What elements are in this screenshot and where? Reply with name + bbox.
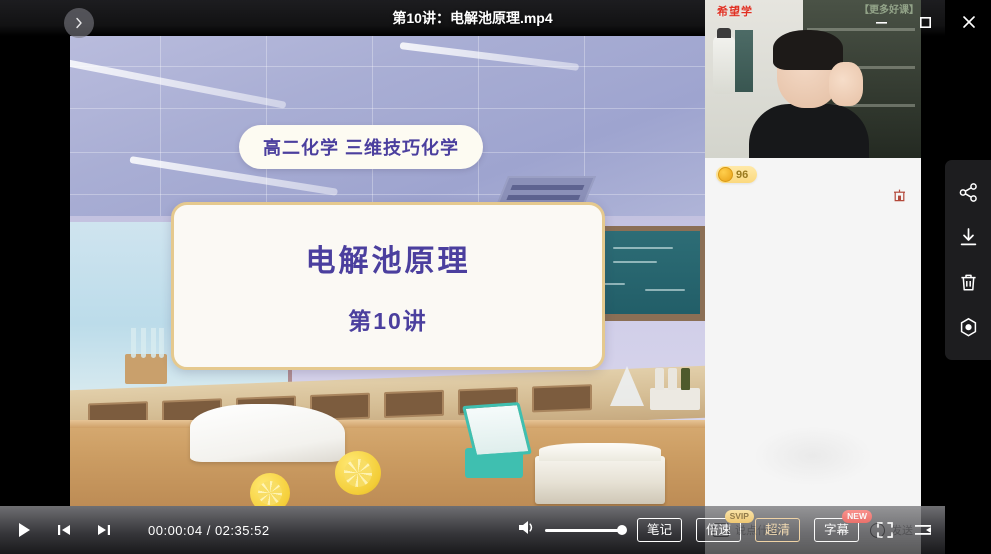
course-name-text: 高二化学 三维技巧化学 xyxy=(263,138,459,158)
open-book-illustration xyxy=(535,456,665,504)
chat-watermark xyxy=(753,426,873,486)
towel-object xyxy=(735,30,753,92)
lemon-illustration xyxy=(335,451,381,495)
lesson-number-text: 第10讲 xyxy=(348,302,428,336)
record-icon[interactable] xyxy=(953,313,983,343)
reagent-tray-illustration xyxy=(650,388,700,410)
brand-logo: 希望学 xyxy=(717,3,753,19)
notes-button-label: 笔记 xyxy=(647,523,672,537)
maximize-icon[interactable] xyxy=(904,0,948,44)
volume-slider[interactable] xyxy=(545,529,623,532)
chat-message-area[interactable]: 96 xyxy=(705,158,921,506)
instructor-body xyxy=(749,104,869,158)
video-stage[interactable]: 高二化学 三维技巧化学 电解池原理 第10讲 xyxy=(70,36,705,506)
minimize-icon[interactable] xyxy=(860,0,904,44)
coin-icon xyxy=(718,167,733,182)
play-icon[interactable] xyxy=(12,518,36,542)
tool-rail-group xyxy=(945,160,991,360)
chat-input-placeholder[interactable]: 说点什么 xyxy=(735,522,864,538)
volume-icon[interactable] xyxy=(517,519,536,541)
next-track-icon[interactable] xyxy=(92,518,116,542)
lesson-title-text: 电解池原理 xyxy=(306,236,471,280)
test-tube-rack-illustration xyxy=(125,354,167,384)
coin-badge[interactable]: 96 xyxy=(716,166,757,183)
instructor-hand xyxy=(829,62,863,106)
thermos-object xyxy=(713,36,735,94)
lesson-title-card: 电解池原理 第10讲 xyxy=(171,202,605,370)
instructor-hair xyxy=(773,30,843,70)
video-player-window: 高二化学 三维技巧化学 电解池原理 第10讲 第10讲：电解池原理.mp4 xyxy=(0,0,991,554)
flask-illustration xyxy=(610,366,644,406)
trash-icon[interactable] xyxy=(953,268,983,298)
close-icon[interactable] xyxy=(947,0,991,44)
download-icon[interactable] xyxy=(953,223,983,253)
chevron-right-icon[interactable] xyxy=(64,8,94,38)
right-tool-rail xyxy=(945,0,991,554)
galvanometer-face-illustration xyxy=(462,402,532,458)
coin-count: 96 xyxy=(736,169,748,181)
desk-edge xyxy=(70,420,705,428)
time-display: 00:00:04 / 02:35:52 xyxy=(148,523,270,538)
chat-input-row[interactable]: 说点什么 发送 xyxy=(705,506,921,554)
pavilion-icon[interactable] xyxy=(892,188,907,203)
volume-control[interactable] xyxy=(517,519,623,541)
notes-button[interactable]: 笔记 xyxy=(637,518,682,542)
course-name-pill: 高二化学 三维技巧化学 xyxy=(239,125,483,169)
emoji-icon[interactable] xyxy=(870,523,885,538)
volume-slider-handle[interactable] xyxy=(617,525,627,535)
video-title-text: 第10讲：电解池原理.mp4 xyxy=(392,8,552,28)
previous-track-icon[interactable] xyxy=(52,518,76,542)
keyboard-icon[interactable] xyxy=(713,523,729,537)
paper-sheet-illustration xyxy=(190,404,345,462)
share-icon[interactable] xyxy=(953,178,983,208)
lemon-illustration xyxy=(250,473,290,506)
live-stream-panel: 希望学 【更多好课】 96 xyxy=(705,0,921,506)
chat-send-button[interactable]: 发送 xyxy=(891,522,913,538)
window-controls xyxy=(860,0,991,44)
playback-left-group: 00:00:04 / 02:35:52 xyxy=(0,518,270,542)
